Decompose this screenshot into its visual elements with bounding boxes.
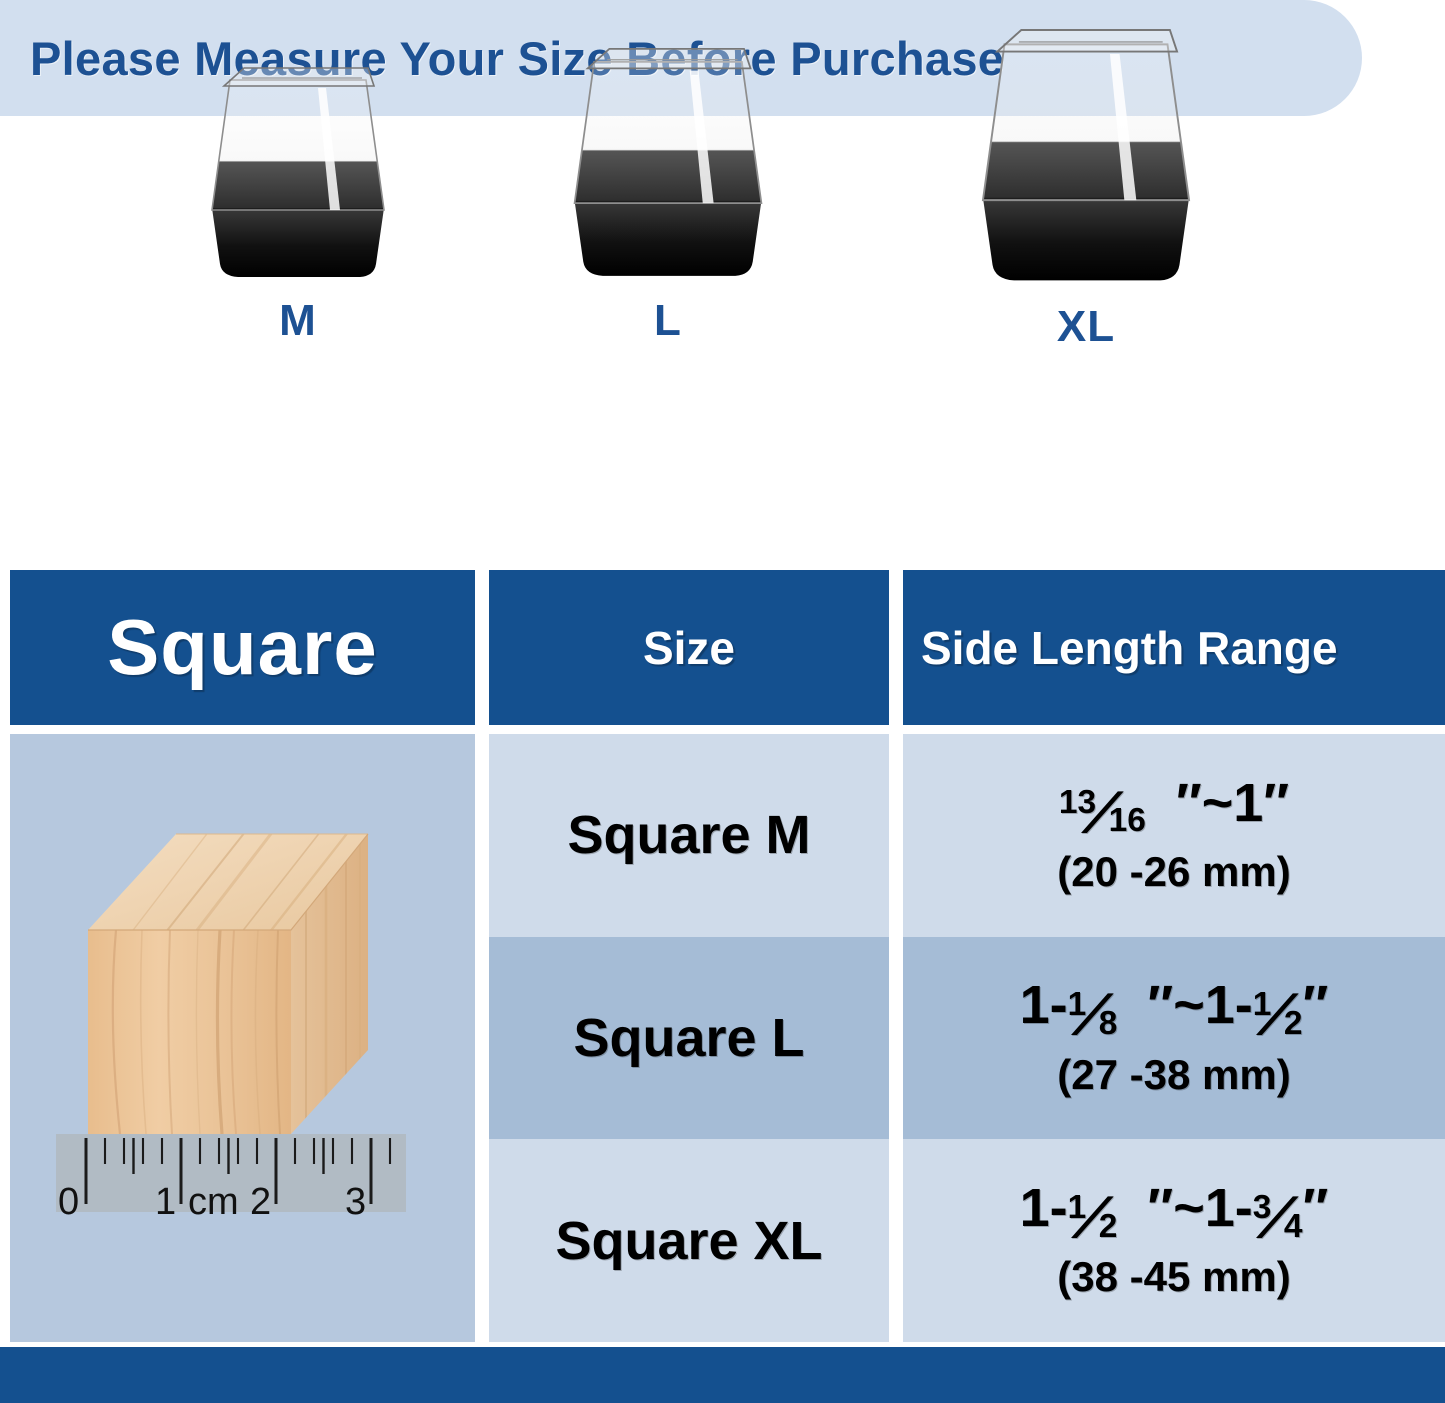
- ruler-tick-2: 2: [250, 1181, 271, 1224]
- table-row-size-m: Square M: [489, 734, 889, 937]
- table-row-size-l: Square L: [489, 937, 889, 1140]
- ruler-tick-0: 0: [58, 1181, 79, 1224]
- ruler-tick-3: 3: [345, 1181, 366, 1224]
- product-label-m: M: [168, 296, 428, 346]
- footer-bar: [0, 1347, 1445, 1403]
- range-inches-m: 13⁄16 ″~1″: [1059, 775, 1289, 842]
- product-label-xl: XL: [930, 302, 1242, 352]
- range-column: 13⁄16 ″~1″ (20 -26 mm) 1-1⁄8 ″~1-1⁄2″ (2…: [903, 734, 1445, 1342]
- chair-leg-cap-icon: [549, 38, 787, 290]
- range-inches-l: 1-1⁄8 ″~1-1⁄2″: [1020, 977, 1329, 1044]
- table-header-cell-size: Size: [489, 570, 889, 725]
- fraction-13-16: 13⁄16: [1059, 781, 1146, 845]
- product-item-xl[interactable]: XL: [930, 18, 1242, 352]
- table-row-size-xl: Square XL: [489, 1139, 889, 1342]
- table-header-row: Square Size Side Length Range: [10, 570, 1445, 725]
- range-mm-m: (20 -26 mm): [1057, 848, 1290, 896]
- table-header-cell-range: Side Length Range: [903, 570, 1445, 725]
- range-inches-xl: 1-1⁄2 ″~1-3⁄4″: [1020, 1180, 1329, 1247]
- product-gallery: M: [0, 0, 1445, 400]
- product-label-l: L: [528, 296, 808, 346]
- wood-block-with-ruler-icon: [38, 782, 448, 1302]
- fraction-3-4: 3⁄4: [1253, 1186, 1303, 1250]
- table-row-range-m: 13⁄16 ″~1″ (20 -26 mm): [903, 734, 1445, 937]
- table-row-range-l: 1-1⁄8 ″~1-1⁄2″ (27 -38 mm): [903, 937, 1445, 1140]
- wooden-leg-illustration: 0 1 cm 2 3: [38, 782, 448, 1302]
- size-label-m: Square M: [567, 804, 810, 866]
- table-header-cell-shape: Square: [10, 570, 475, 725]
- chair-leg-cap-icon: [950, 18, 1222, 296]
- range-mm-l: (27 -38 mm): [1057, 1051, 1290, 1099]
- product-item-m[interactable]: M: [168, 58, 428, 346]
- size-table: Square Size Side Length Range: [10, 570, 1445, 1347]
- ruler-unit-cm: cm: [188, 1181, 239, 1224]
- size-chart-page: Please Measure Your Size Before Purchase: [0, 0, 1445, 1403]
- header-label-size: Size: [643, 621, 735, 675]
- table-row-range-xl: 1-1⁄2 ″~1-3⁄4″ (38 -45 mm): [903, 1139, 1445, 1342]
- product-item-l[interactable]: L: [528, 38, 808, 346]
- illustration-cell: 0 1 cm 2 3: [10, 734, 475, 1342]
- fraction-1-2: 1⁄2: [1253, 983, 1303, 1047]
- fraction-1-2: 1⁄2: [1068, 1186, 1118, 1250]
- size-column: Square M Square L Square XL: [489, 734, 889, 1342]
- size-label-xl: Square XL: [555, 1210, 822, 1272]
- fraction-1-8: 1⁄8: [1068, 983, 1118, 1047]
- chair-leg-cap-icon: [198, 58, 398, 290]
- header-label-range: Side Length Range: [921, 621, 1338, 675]
- size-label-l: Square L: [573, 1007, 804, 1069]
- range-mm-xl: (38 -45 mm): [1057, 1253, 1290, 1301]
- table-body: 0 1 cm 2 3 Square M Square L Square: [10, 734, 1445, 1342]
- ruler-tick-1: 1: [155, 1181, 176, 1224]
- header-label-shape: Square: [107, 602, 377, 693]
